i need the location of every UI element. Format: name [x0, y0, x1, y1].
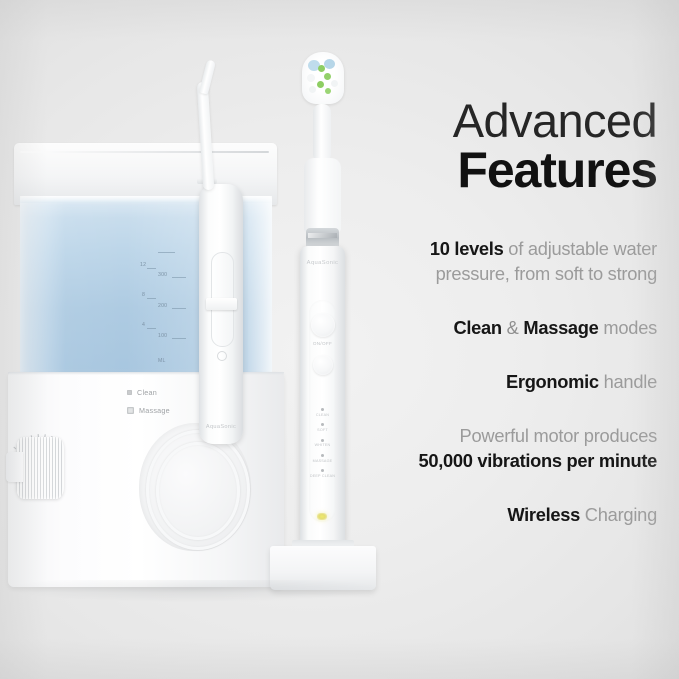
nozzle-stem [197, 82, 215, 190]
feature-line: Powerful motor produces [360, 423, 657, 448]
tank-ml-unit: ML [158, 358, 166, 364]
feature-item: Powerful motor produces50,000 vibrations… [360, 423, 657, 473]
tank-glass-highlight [248, 196, 272, 378]
toothbrush-mode-deep-clean: DEEP CLEAN [309, 469, 336, 478]
feature-line: Wireless Charging [360, 502, 657, 527]
toothbrush-mode-list: CLEAN SOFT WHITEN MASSAGE DEEP CLEAN [309, 408, 336, 484]
green-indicator-bristle-1 [318, 65, 325, 72]
feature-keyword: 50,000 vibrations per minute [419, 450, 658, 471]
mode-label-massage: MASSAGE [309, 459, 336, 463]
feature-text: of adjustable water [503, 238, 657, 259]
feature-line: Ergonomic handle [360, 369, 657, 394]
feature-item: 10 levels of adjustable waterpressure, f… [360, 236, 657, 286]
feature-list: 10 levels of adjustable waterpressure, f… [360, 236, 657, 527]
hose-coil-inner [156, 442, 240, 540]
flosser-nozzle [196, 60, 218, 188]
feature-item: Wireless Charging [360, 502, 657, 527]
feature-keyword: Clean [454, 317, 502, 338]
feature-line: pressure, from soft to strong [360, 261, 657, 286]
feature-text: modes [599, 317, 657, 338]
toothbrush-mode-clean: CLEAN [309, 408, 336, 417]
feature-text: & [502, 317, 524, 338]
green-indicator-bristle-4 [325, 88, 331, 94]
tank-ml-line-100 [172, 338, 186, 339]
power-button[interactable] [311, 313, 335, 337]
toothbrush-upper-shaft [304, 158, 341, 232]
mode-label-clean: CLEAN [309, 413, 336, 417]
mode-button[interactable] [313, 355, 333, 375]
tank-oz-line-8 [147, 298, 156, 299]
clean-indicator-dot [127, 390, 132, 395]
tank-ml-mark-200: 200 [158, 303, 167, 309]
mode-led-deep-clean [321, 469, 324, 472]
tank-ml-mark-300: 300 [158, 272, 167, 278]
massage-indicator-dot [127, 407, 134, 414]
product-drop-shadow [6, 580, 381, 602]
feature-item: Ergonomic handle [360, 369, 657, 394]
feature-text: handle [599, 371, 657, 392]
feature-keyword: Massage [523, 317, 598, 338]
tank-oz-mark-8: 8 [142, 292, 145, 298]
dial-side-grip[interactable] [6, 452, 23, 482]
feature-line: Clean & Massage modes [360, 315, 657, 340]
tank-oz-mark-12: 12 [140, 262, 146, 268]
flosser-mode-massage: Massage [127, 406, 170, 415]
flosser-mode-clean: Clean [127, 388, 170, 397]
feature-keyword: Ergonomic [506, 371, 599, 392]
mode-led-clean [321, 408, 324, 411]
green-indicator-bristle-2 [324, 73, 331, 80]
feature-text: Powerful motor produces [460, 425, 657, 446]
tank-oz-mark-4: 4 [142, 322, 145, 328]
white-bristle-cluster-3 [331, 80, 338, 87]
feature-keyword: Wireless [507, 504, 580, 525]
feature-item: Clean & Massage modes [360, 315, 657, 340]
feature-text: Charging [580, 504, 657, 525]
mode-label-whiten: WHITEN [309, 443, 336, 447]
toothbrush-head [302, 52, 344, 110]
blue-bristle-cluster [324, 59, 335, 69]
feature-text: pressure, from soft to strong [436, 263, 657, 284]
toothbrush-brand-label: AquaSonic [300, 260, 345, 266]
toothbrush-mode-whiten: WHITEN [309, 439, 336, 448]
white-bristle-cluster-2 [309, 86, 316, 93]
feature-line: 50,000 vibrations per minute [360, 448, 657, 473]
product-photo: 12 8 4 300 200 100 ML Clean [0, 0, 380, 679]
tank-ml-line-200 [172, 308, 186, 309]
nozzle-tip [199, 59, 216, 94]
mode-label-deep-clean: DEEP CLEAN [309, 474, 336, 478]
pressure-adjust-dial[interactable] [16, 437, 64, 499]
mode-label-soft: SOFT [309, 428, 336, 432]
feature-keyword: 10 levels [430, 238, 504, 259]
massage-indicator-label: Massage [139, 406, 170, 415]
headline-line-2: Features [360, 144, 657, 196]
mode-led-soft [321, 423, 324, 426]
tank-ml-line-top [158, 252, 175, 253]
tank-oz-line-12 [147, 268, 156, 269]
bristle-pad [302, 52, 344, 104]
flosser-mode-indicators: Clean Massage [127, 388, 170, 424]
feature-line: 10 levels of adjustable water [360, 236, 657, 261]
headline-line-1: Advanced [360, 96, 657, 146]
toothbrush-mode-massage: MASSAGE [309, 454, 336, 463]
charging-led-indicator [317, 513, 327, 520]
clean-indicator-label: Clean [137, 388, 157, 397]
feature-copy-panel: Advanced Features 10 levels of adjustabl… [360, 96, 657, 556]
power-button-label: ON/OFF [303, 341, 342, 346]
wand-power-icon[interactable] [217, 351, 227, 361]
product-feature-image: 12 8 4 300 200 100 ML Clean [0, 0, 679, 679]
wand-brand-label: AquaSonic [199, 424, 243, 430]
mode-led-whiten [321, 439, 324, 442]
white-bristle-cluster-1 [307, 74, 315, 82]
green-indicator-bristle-3 [317, 81, 324, 88]
tank-ml-line-300 [172, 277, 186, 278]
tank-oz-line-4 [147, 328, 156, 329]
tank-ml-mark-100: 100 [158, 333, 167, 339]
mode-led-massage [321, 454, 324, 457]
toothbrush-neck [313, 104, 331, 162]
wand-slider-control[interactable] [206, 298, 237, 310]
toothbrush-mode-soft: SOFT [309, 423, 336, 432]
